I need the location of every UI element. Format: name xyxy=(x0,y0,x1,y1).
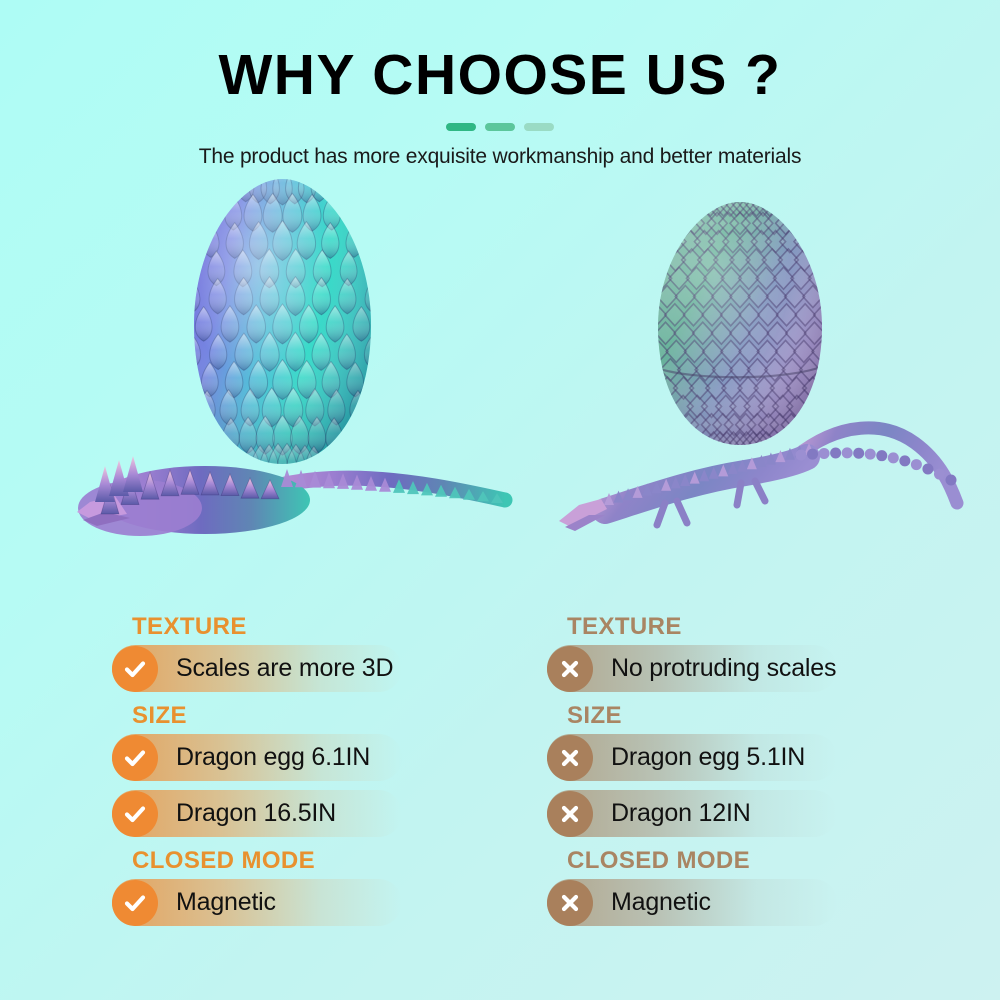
check-icon xyxy=(112,735,158,781)
divider-dashes xyxy=(0,123,1000,131)
comparison-column-left: TEXTUREScales are more 3DSIZEDragon egg … xyxy=(95,612,565,935)
feature-row: Scales are more 3D xyxy=(95,645,515,692)
divider-dash-1 xyxy=(446,123,476,131)
divider-dash-3 xyxy=(524,123,554,131)
cross-icon xyxy=(547,646,593,692)
page-title: WHY CHOOSE US ? xyxy=(0,46,1000,106)
comparison-column-right: TEXTURENo protruding scalesSIZEDragon eg… xyxy=(530,612,1000,935)
cross-icon xyxy=(547,735,593,781)
category-heading-size: SIZE xyxy=(132,701,565,731)
feature-label: Scales are more 3D xyxy=(176,654,393,683)
category-heading-texture: TEXTURE xyxy=(567,612,1000,642)
feature-row: No protruding scales xyxy=(530,645,950,692)
product-image-left xyxy=(35,177,515,597)
page-subtitle: The product has more exquisite workmansh… xyxy=(0,145,1000,169)
feature-row: Dragon 16.5IN xyxy=(95,790,515,837)
feature-label: Dragon 16.5IN xyxy=(176,799,336,828)
feature-label: Dragon egg 5.1IN xyxy=(611,743,805,772)
dragon-figurine-right-image xyxy=(545,399,985,549)
product-images xyxy=(0,177,1000,597)
feature-label: No protruding scales xyxy=(611,654,836,683)
feature-label: Magnetic xyxy=(176,888,276,917)
check-icon xyxy=(112,791,158,837)
feature-row: Magnetic xyxy=(530,879,950,926)
feature-label: Magnetic xyxy=(611,888,711,917)
category-heading-texture: TEXTURE xyxy=(132,612,565,642)
category-heading-closed-mode: CLOSED MODE xyxy=(132,846,565,876)
divider-dash-2 xyxy=(485,123,515,131)
check-icon xyxy=(112,880,158,926)
cross-icon xyxy=(547,880,593,926)
feature-row: Magnetic xyxy=(95,879,515,926)
feature-row: Dragon 12IN xyxy=(530,790,950,837)
category-heading-closed-mode: CLOSED MODE xyxy=(567,846,1000,876)
feature-label: Dragon 12IN xyxy=(611,799,751,828)
cross-icon xyxy=(547,791,593,837)
check-icon xyxy=(112,646,158,692)
feature-row: Dragon egg 6.1IN xyxy=(95,734,515,781)
feature-label: Dragon egg 6.1IN xyxy=(176,743,370,772)
feature-row: Dragon egg 5.1IN xyxy=(530,734,950,781)
comparison-section: TEXTUREScales are more 3DSIZEDragon egg … xyxy=(0,612,1000,1000)
header: WHY CHOOSE US ? The product has more exq… xyxy=(0,0,1000,169)
dragon-figurine-left-image xyxy=(35,422,515,547)
category-heading-size: SIZE xyxy=(567,701,1000,731)
product-image-right xyxy=(540,199,985,599)
